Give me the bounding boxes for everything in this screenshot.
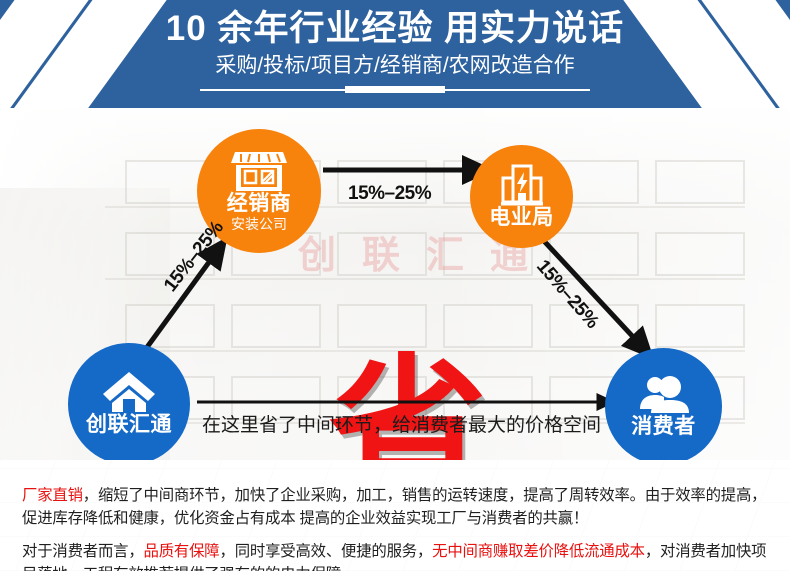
footer-paragraph-2-lead: 对于消费者而言， xyxy=(22,543,144,560)
footer-highlight-direct-sales: 厂家直销 xyxy=(22,487,83,504)
node-factory[interactable]: 创联汇通 xyxy=(68,343,190,460)
header-title: 10 余年行业经验 用实力说话 xyxy=(0,0,790,52)
footer-highlight-no-middleman: 无中间商赚取差价降低流通成本 xyxy=(432,543,645,560)
users-icon xyxy=(637,375,691,415)
footer-description: 厂家直销，缩短了中间商环节，加快了企业采购，加工，销售的运转速度，提高了周转效率… xyxy=(0,460,790,571)
header-subtitle: 采购/投标/项目方/经销商/农网改造合作 xyxy=(0,52,790,80)
promo-banner-page: 10 余年行业经验 用实力说话 采购/投标/项目方/经销商/农网改造合作 xyxy=(0,0,790,571)
footer-paragraph-2-middle: ，同时享受高效、便捷的服务， xyxy=(220,543,433,560)
header-banner: 10 余年行业经验 用实力说话 采购/投标/项目方/经销商/农网改造合作 xyxy=(0,0,790,108)
node-factory-label: 创联汇通 xyxy=(86,413,172,437)
node-dealer-label: 经销商 xyxy=(227,192,292,216)
node-dealer-sublabel: 安装公司 xyxy=(231,216,287,233)
label-dealer-to-bureau-percent: 15%–25% xyxy=(348,183,431,205)
home-icon xyxy=(102,371,156,413)
footer-paragraph-1-rest: ，缩短了中间商环节，加快了企业采购，加工，销售的运转速度，提高了周转效率。由于效… xyxy=(22,487,766,527)
footer-highlight-quality: 品质有保障 xyxy=(144,543,220,560)
diagram-bottom-caption: 在这里省了中间环节，给消费者最大的价格空间 xyxy=(202,410,601,437)
store-icon xyxy=(231,150,287,192)
header-divider xyxy=(200,86,590,94)
header-divider-thick-segment xyxy=(345,86,445,93)
flow-diagram: 创联汇通 15%–25% 15%–25% 15%–25% 省 在这里省了中间环节… xyxy=(0,108,790,460)
node-consumer[interactable]: 消费者 xyxy=(605,348,722,460)
node-power-bureau-label: 电业局 xyxy=(489,206,554,230)
node-consumer-label: 消费者 xyxy=(631,415,696,439)
header-content: 10 余年行业经验 用实力说话 采购/投标/项目方/经销商/农网改造合作 xyxy=(0,0,790,108)
footer-paragraph-2: 对于消费者而言，品质有保障，同时享受高效、便捷的服务，无中间商赚取差价降低流通成… xyxy=(22,540,774,571)
footer-paragraph-1: 厂家直销，缩短了中间商环节，加快了企业采购，加工，销售的运转速度，提高了周转效率… xyxy=(22,484,774,530)
node-power-bureau[interactable]: 电业局 xyxy=(470,145,573,248)
power-building-icon xyxy=(499,164,545,206)
